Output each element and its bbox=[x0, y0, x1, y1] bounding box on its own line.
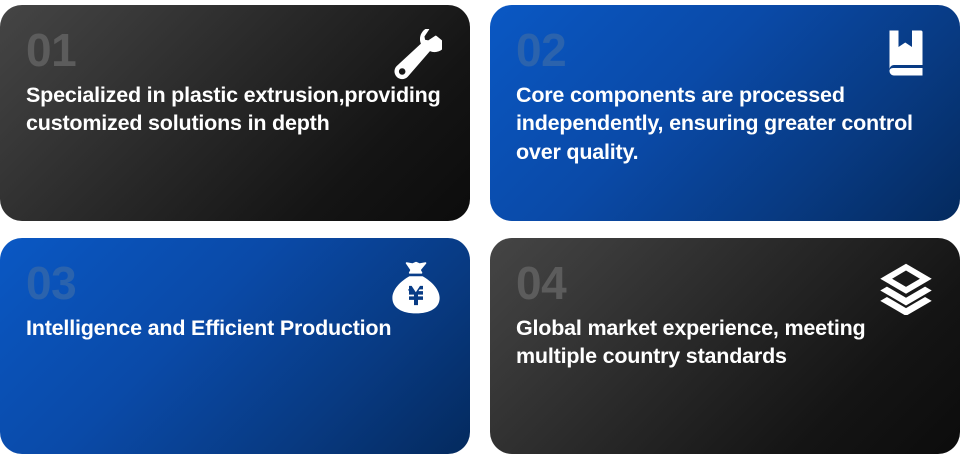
card-text: Specialized in plastic extrusion,providi… bbox=[26, 81, 444, 138]
feature-card-grid: 01 Specialized in plastic extrusion,prov… bbox=[0, 0, 960, 459]
feature-card-04[interactable]: 04 Global market experience, meeting mul… bbox=[490, 238, 960, 454]
card-text: Core components are processed independen… bbox=[516, 81, 934, 166]
card-number: 03 bbox=[26, 260, 444, 306]
card-number: 02 bbox=[516, 27, 934, 73]
card-text: Intelligence and Efficient Production bbox=[26, 314, 444, 342]
card-number: 04 bbox=[516, 260, 934, 306]
card-text: Global market experience, meeting multip… bbox=[516, 314, 934, 371]
feature-card-01[interactable]: 01 Specialized in plastic extrusion,prov… bbox=[0, 5, 470, 221]
feature-card-02[interactable]: 02 Core components are processed indepen… bbox=[490, 5, 960, 221]
card-number: 01 bbox=[26, 27, 444, 73]
feature-card-03[interactable]: 03 Intelligence and Efficient Production bbox=[0, 238, 470, 454]
